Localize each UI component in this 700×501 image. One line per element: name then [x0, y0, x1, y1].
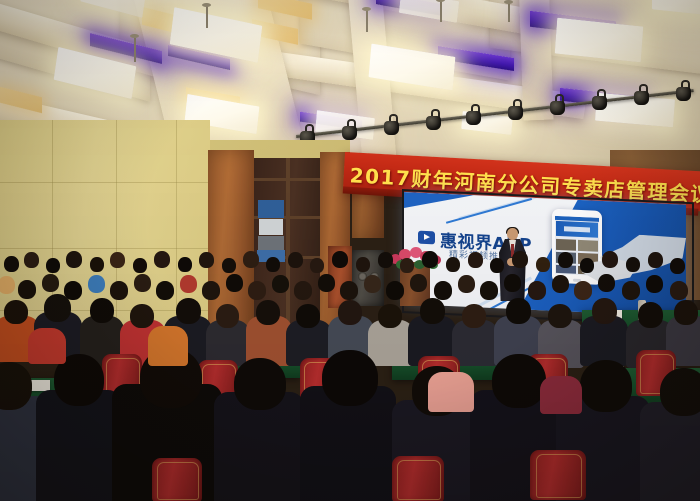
- screen-stripe: [446, 198, 532, 224]
- pendant-rod: [440, 0, 442, 22]
- stage-spotlight: [592, 95, 607, 111]
- pendant-rod: [134, 38, 136, 62]
- audience-area: [0, 250, 700, 501]
- pendant-cap: [130, 34, 139, 38]
- chair: [530, 450, 586, 500]
- audience-pink-jacket: [428, 372, 474, 412]
- screen-accent-corner: [404, 192, 474, 211]
- audience-orange-jacket: [148, 326, 188, 366]
- audience-maroon-jacket: [540, 376, 582, 414]
- stage-spotlight: [466, 110, 481, 126]
- pendant-rod: [508, 2, 510, 22]
- stage-spotlight: [384, 120, 399, 136]
- play-button-icon: [418, 231, 435, 245]
- pendant-cap: [504, 0, 513, 4]
- pendant-cap: [362, 7, 371, 11]
- stage-spotlight: [426, 115, 441, 131]
- audience-red-jacket: [28, 328, 66, 364]
- stage-spotlight: [342, 125, 357, 141]
- pendant-cap: [202, 3, 211, 7]
- stage-spotlight: [634, 90, 649, 106]
- conference-hall-photo: 2017财年河南分公司专卖店管理会议 惠视界APP 精彩视频推送: [0, 0, 700, 501]
- pendant-rod: [206, 6, 208, 28]
- chair: [152, 458, 202, 501]
- partition-rail: [254, 178, 322, 181]
- pendant-rod: [366, 10, 368, 32]
- stage-spotlight: [508, 105, 523, 121]
- chair: [392, 456, 444, 501]
- stage-spotlight: [676, 86, 691, 102]
- stage-spotlight: [550, 100, 565, 116]
